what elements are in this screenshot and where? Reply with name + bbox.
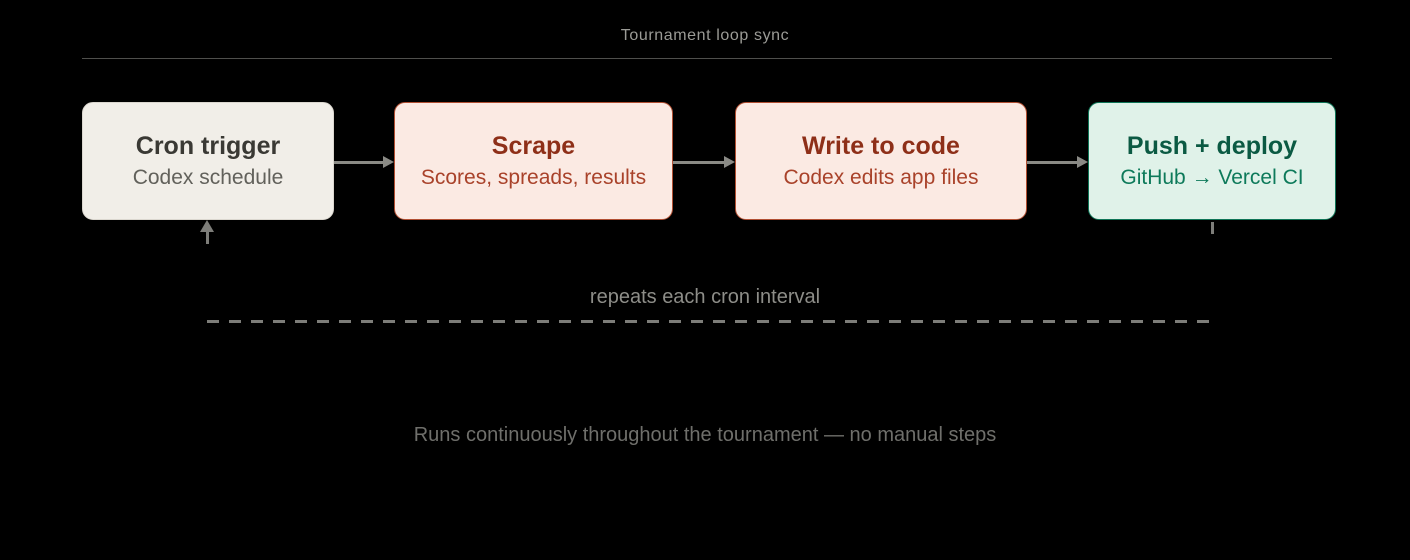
arrowhead-icon	[1077, 156, 1088, 168]
connector-shaft	[673, 161, 724, 164]
flow-node-scrape[interactable]: Scrape Scores, spreads, results	[394, 102, 673, 220]
connector-arrow-3	[1027, 154, 1088, 170]
flow-node-subtitle: Scores, spreads, results	[421, 166, 646, 191]
flow-node-subtitle: GitHub → Vercel CI	[1120, 166, 1303, 191]
flow-node-push-deploy[interactable]: Push + deploy GitHub → Vercel CI	[1088, 102, 1336, 220]
flow-node-title: Write to code	[802, 132, 960, 160]
flow-node-title: Cron trigger	[136, 132, 280, 160]
flow-node-write-to-code[interactable]: Write to code Codex edits app files	[735, 102, 1027, 220]
header-divider	[82, 58, 1332, 59]
loop-label: repeats each cron interval	[0, 286, 1410, 309]
arrowhead-icon	[383, 156, 394, 168]
arrowhead-icon	[724, 156, 735, 168]
connector-shaft	[334, 161, 383, 164]
flow-node-cron-trigger[interactable]: Cron trigger Codex schedule	[82, 102, 334, 220]
connector-arrow-1	[334, 154, 394, 170]
footer-caption: Runs continuously throughout the tournam…	[0, 424, 1410, 447]
diagram-canvas: Tournament loop sync Cron trigger Codex …	[0, 0, 1410, 560]
connector-arrow-2	[673, 154, 735, 170]
flow-node-title: Scrape	[492, 132, 575, 160]
loop-arrowhead-icon	[200, 220, 214, 232]
flow-node-subtitle: Codex edits app files	[784, 166, 979, 191]
flow-node-title: Push + deploy	[1127, 132, 1297, 160]
loop-segment-bottom	[207, 320, 1214, 323]
flow-node-subtitle: Codex schedule	[133, 166, 284, 191]
connector-shaft	[1027, 161, 1077, 164]
page-title: Tournament loop sync	[0, 27, 1410, 45]
